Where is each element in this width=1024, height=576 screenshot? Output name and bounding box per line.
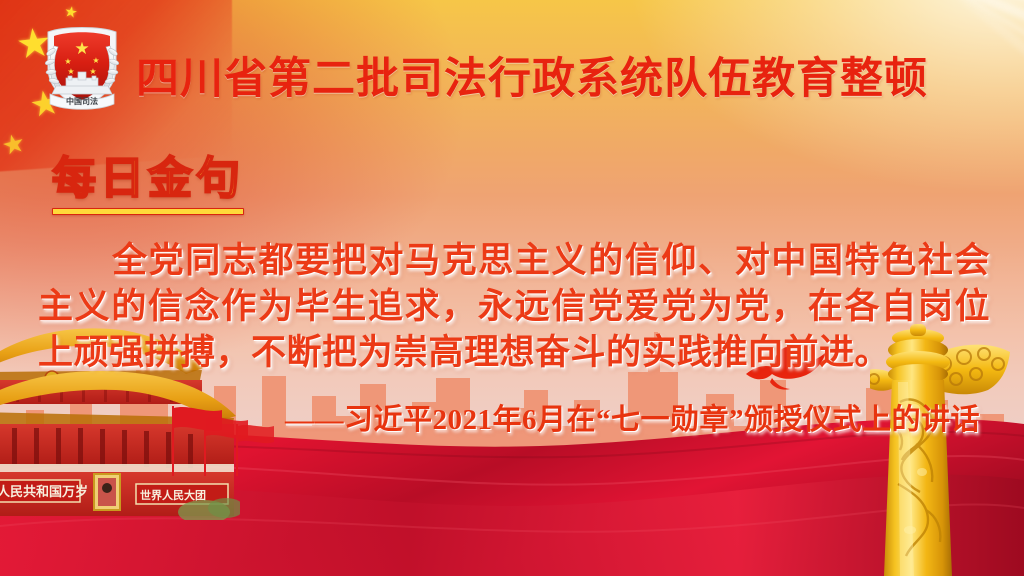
svg-text:★: ★ [74, 39, 89, 58]
svg-text:★: ★ [67, 67, 74, 76]
section-label-group: 每日金句 [52, 142, 244, 215]
svg-text:★: ★ [64, 57, 71, 66]
quote-text: 全党同志都要把对马克思主义的信仰、对中国特色社会主义的信念作为毕生追求，永远信党… [38, 238, 990, 376]
emblem-caption: 中国司法 [66, 96, 98, 106]
quote-attribution: ——习近平2021年6月在“七一勋章”颁授仪式上的讲话 [38, 396, 980, 438]
svg-text:世界人民大团: 世界人民大团 [140, 488, 206, 502]
section-underline [52, 208, 244, 215]
svg-text:华人民共和国万岁: 华人民共和国万岁 [0, 484, 88, 499]
svg-text:★: ★ [89, 67, 96, 76]
poster-canvas: ★ ★ ★ ★ ★ ★ [0, 0, 1024, 576]
section-label-daily-quote: 每日金句 [52, 142, 244, 206]
judicial-emblem-icon: ★ ★ ★ ★ ★ [34, 16, 130, 116]
svg-text:★: ★ [92, 56, 99, 65]
page-title: 四川省第二批司法行政系统队伍教育整顿 [136, 44, 928, 106]
